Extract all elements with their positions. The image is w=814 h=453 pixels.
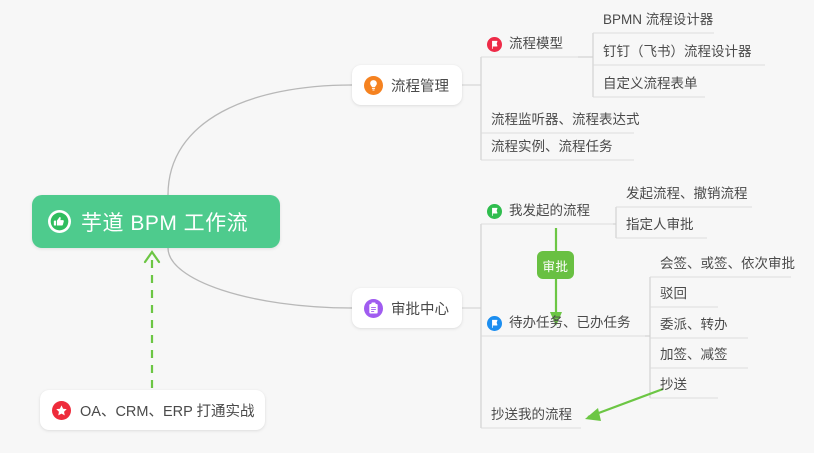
approval-flow-badge-label: 审批: [542, 256, 568, 275]
leaf-todo-done-tasks[interactable]: 待办任务、已办任务: [487, 309, 631, 339]
leaf-cc-to-me-label: 抄送我的流程: [491, 408, 572, 422]
leaf-custom-process-form[interactable]: 自定义流程表单: [603, 70, 698, 100]
leaf-instance-task-label: 流程实例、流程任务: [491, 140, 613, 154]
leaf-assignee-approval-label: 指定人审批: [626, 218, 694, 232]
leaf-multi-sign[interactable]: 会签、或签、依次审批: [660, 250, 795, 280]
leaf-multi-sign-label: 会签、或签、依次审批: [660, 257, 795, 271]
dashed-arrow-note-to-root: [145, 252, 159, 388]
leaf-my-initiated-label: 我发起的流程: [509, 204, 590, 218]
leaf-listener-expression[interactable]: 流程监听器、流程表达式: [491, 106, 640, 136]
branch-process-management[interactable]: 流程管理: [352, 65, 462, 105]
note-integration-card[interactable]: OA、CRM、ERP 打通实战: [40, 390, 265, 430]
leaf-assignee-approval[interactable]: 指定人审批: [626, 211, 694, 241]
leaf-add-remove-sign-label: 加签、减签: [660, 348, 728, 362]
leaf-custom-process-form-label: 自定义流程表单: [603, 77, 698, 91]
leaf-process-model[interactable]: 流程模型: [487, 30, 563, 60]
leaf-reject[interactable]: 驳回: [660, 280, 687, 310]
flag-blue-icon: [487, 316, 502, 331]
branch-approval-label: 审批中心: [391, 298, 449, 319]
note-integration-label: OA、CRM、ERP 打通实战: [80, 400, 255, 421]
mindmap-canvas: 芋道 BPM 工作流 流程管理 流程模型 流程监听器、流程表达式 流程实例、流程…: [0, 0, 814, 453]
approval-flow-badge[interactable]: 审批: [537, 251, 574, 279]
link-root-to-process: [168, 85, 352, 195]
thumbs-up-icon: [48, 210, 71, 233]
leaf-cc[interactable]: 抄送: [660, 371, 687, 401]
leaf-bpmn-designer[interactable]: BPMN 流程设计器: [603, 6, 713, 36]
root-node[interactable]: 芋道 BPM 工作流: [32, 195, 280, 248]
arrow-cc-to-ccmine: [585, 389, 663, 421]
leaf-dingtalk-feishu-designer[interactable]: 钉钉（飞书）流程设计器: [603, 38, 752, 68]
leaf-start-cancel-label: 发起流程、撤销流程: [626, 187, 748, 201]
leaf-cc-to-me[interactable]: 抄送我的流程: [491, 401, 572, 431]
branch-approval-center[interactable]: 审批中心: [352, 288, 462, 328]
leaf-my-initiated[interactable]: 我发起的流程: [487, 197, 590, 227]
leaf-reject-label: 驳回: [660, 287, 687, 301]
clipboard-icon: [364, 299, 383, 318]
leaf-process-model-label: 流程模型: [509, 37, 563, 51]
leaf-delegate-transfer-label: 委派、转办: [660, 318, 728, 332]
leaf-listener-expression-label: 流程监听器、流程表达式: [491, 113, 640, 127]
root-label: 芋道 BPM 工作流: [81, 207, 248, 237]
leaf-add-remove-sign[interactable]: 加签、减签: [660, 341, 728, 371]
leaf-instance-task[interactable]: 流程实例、流程任务: [491, 133, 613, 163]
branch-process-label: 流程管理: [391, 75, 449, 96]
leaf-start-cancel[interactable]: 发起流程、撤销流程: [626, 180, 748, 210]
link-root-to-approval: [168, 248, 352, 308]
lightbulb-icon: [364, 76, 383, 95]
leaf-bpmn-designer-label: BPMN 流程设计器: [603, 13, 713, 27]
leaf-todo-done-tasks-label: 待办任务、已办任务: [509, 316, 631, 330]
flag-green-icon: [487, 204, 502, 219]
leaf-delegate-transfer[interactable]: 委派、转办: [660, 311, 728, 341]
leaf-cc-label: 抄送: [660, 378, 687, 392]
star-icon: [52, 401, 71, 420]
leaf-dingtalk-feishu-designer-label: 钉钉（飞书）流程设计器: [603, 45, 752, 59]
flag-red-icon: [487, 37, 502, 52]
